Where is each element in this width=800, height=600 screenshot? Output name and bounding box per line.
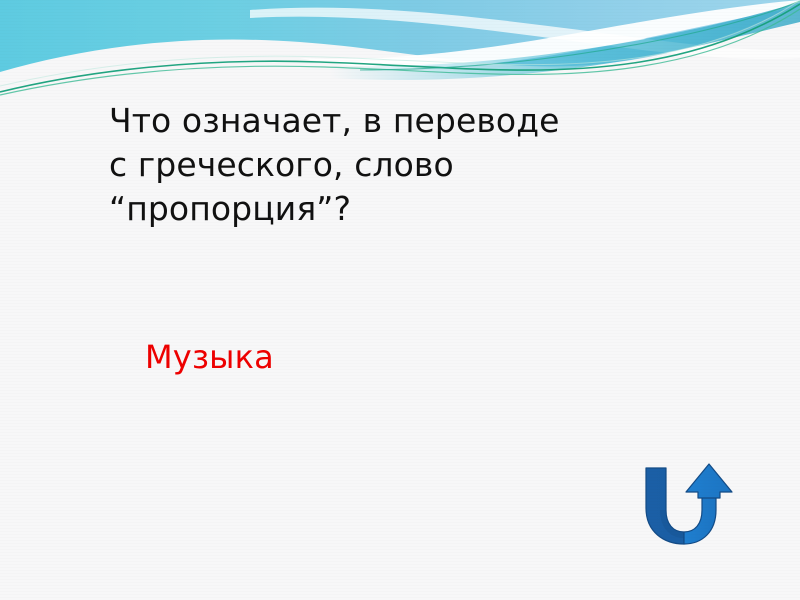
u-turn-arrow-button[interactable] (640, 462, 740, 548)
question-text: Что означает, в переводе с греческого, с… (109, 99, 709, 231)
decorative-wave-banner (0, 0, 800, 96)
slide-canvas: Что означает, в переводе с греческого, с… (0, 0, 800, 600)
answer-text: Музыка (145, 337, 274, 377)
